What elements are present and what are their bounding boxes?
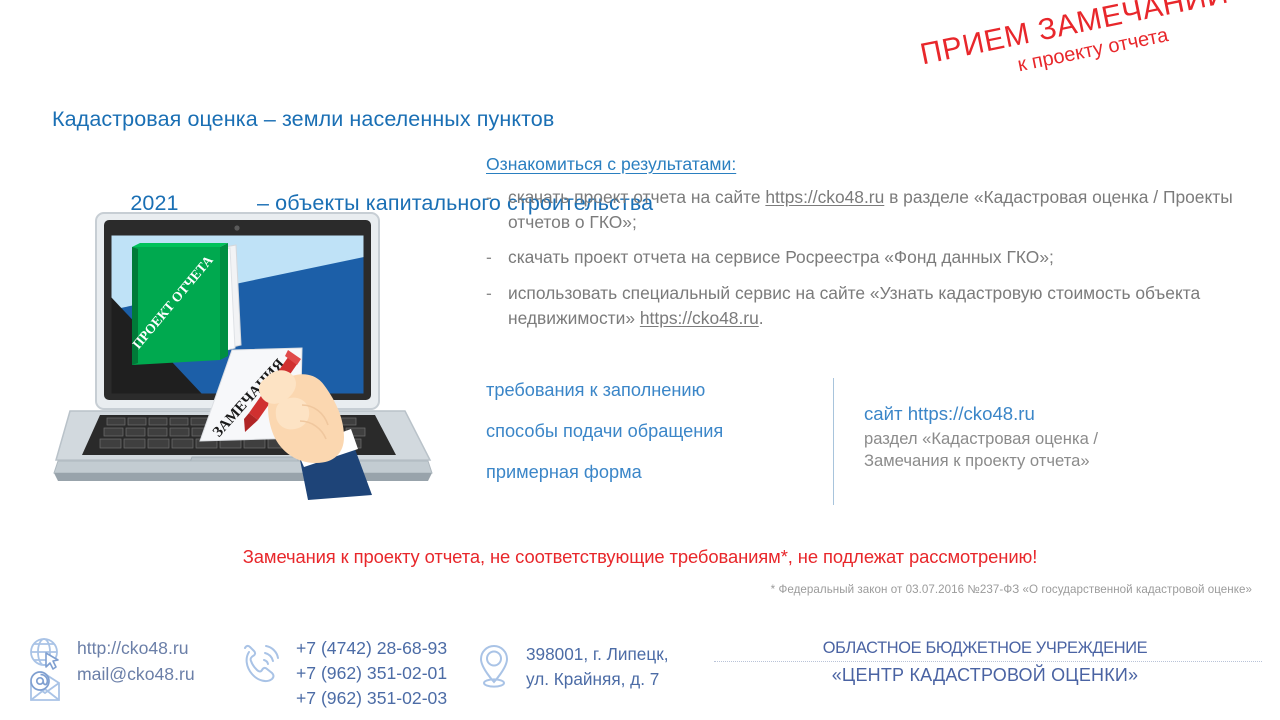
- site-reference-link[interactable]: сайт https://cko48.ru: [864, 402, 1254, 426]
- address-line-1: 398001, г. Липецк,: [526, 642, 669, 667]
- email-link[interactable]: mail@cko48.ru: [77, 662, 195, 688]
- phone-number-2: +7 (962) 351-02-03: [296, 686, 447, 711]
- phone-number-1: +7 (962) 351-02-01: [296, 661, 447, 686]
- list-item-text: скачать проект отчета на сервисе Росреес…: [508, 245, 1256, 270]
- footer-phone-rows: +7 (4742) 28-68-93 +7 (962) 351-02-01 +7…: [296, 636, 447, 711]
- vertical-divider: [833, 378, 834, 505]
- bullet-dash: -: [486, 281, 508, 330]
- acceptance-banner-subtitle: к проекту отчета: [912, 2, 1274, 99]
- requirements-item-0: требования к заполнению: [486, 380, 816, 401]
- website-link[interactable]: http://cko48.ru: [77, 636, 195, 662]
- footer: http://cko48.ru mail@cko48.ru +7 (4742) …: [0, 628, 1280, 720]
- results-heading: Ознакомиться с результатами:: [486, 152, 1256, 177]
- list-item: - использовать специальный сервис на сай…: [486, 281, 1256, 330]
- footer-web-rows: http://cko48.ru mail@cko48.ru: [77, 636, 195, 687]
- footer-web-icons: [26, 636, 66, 713]
- warning-message: Замечания к проекту отчета, не соответст…: [0, 546, 1280, 568]
- list-item: - скачать проект отчета на сервисе Росре…: [486, 245, 1256, 270]
- acceptance-banner-title: ПРИЕМ ЗАМЕЧАНИЙ: [880, 0, 1268, 79]
- list-item-pre: скачать проект отчета на сервисе Росреес…: [508, 247, 1054, 267]
- location-pin-icon: [474, 642, 514, 701]
- phone-number-0: +7 (4742) 28-68-93: [296, 636, 447, 661]
- site-reference-sub-line-2: Замечания к проекту отчета»: [864, 450, 1254, 472]
- acceptance-banner: ПРИЕМ ЗАМЕЧАНИЙ к проекту отчета: [880, 18, 1280, 168]
- footer-address-group: 398001, г. Липецк, ул. Крайняя, д. 7: [474, 642, 669, 701]
- list-item: - скачать проект отчета на сайте https:/…: [486, 185, 1256, 234]
- requirements-item-2: примерная форма: [486, 462, 816, 483]
- requirements-list: требования к заполнению способы подачи о…: [486, 380, 816, 503]
- list-item-pre: скачать проект отчета на сайте: [508, 187, 765, 207]
- phone-icon: [240, 636, 284, 709]
- organization-line-1: ОБЛАСТНОЕ БЮДЖЕТНОЕ УЧРЕЖДЕНИЕ: [700, 638, 1270, 659]
- mid-section: требования к заполнению способы подачи о…: [486, 380, 1266, 510]
- report-book-icon: ПРОЕКТ ОТЧЕТА: [129, 243, 228, 365]
- list-item-text: использовать специальный сервис на сайте…: [508, 281, 1256, 330]
- footnote: * Федеральный закон от 03.07.2016 №237-Ф…: [0, 583, 1252, 596]
- organization-divider: [714, 661, 1262, 663]
- footer-address-rows: 398001, г. Липецк, ул. Крайняя, д. 7: [526, 642, 669, 692]
- cko48-link[interactable]: https://cko48.ru: [765, 187, 884, 207]
- acceptance-banner-inner: ПРИЕМ ЗАМЕЧАНИЙ к проекту отчета: [880, 0, 1273, 104]
- requirements-item-1: способы подачи обращения: [486, 421, 816, 442]
- results-block: Ознакомиться с результатами: - скачать п…: [486, 152, 1256, 341]
- site-reference: сайт https://cko48.ru раздел «Кадастрова…: [864, 402, 1254, 471]
- site-reference-sub-line-1: раздел «Кадастровая оценка /: [864, 428, 1254, 450]
- footer-phone-group: +7 (4742) 28-68-93 +7 (962) 351-02-01 +7…: [240, 636, 447, 711]
- laptop-illustration: ПРОЕКТ ОТЧЕТА: [52, 205, 442, 500]
- at-sign-icon: [31, 672, 49, 690]
- page-title-line-1: Кадастровая оценка – земли населенных пу…: [52, 106, 852, 134]
- bullet-dash: -: [486, 185, 508, 234]
- cko48-link[interactable]: https://cko48.ru: [640, 308, 759, 328]
- organization-line-2: «ЦЕНТР КАДАСТРОВОЙ ОЦЕНКИ»: [700, 664, 1270, 687]
- list-item-post: .: [759, 308, 764, 328]
- bullet-dash: -: [486, 245, 508, 270]
- address-line-2: ул. Крайняя, д. 7: [526, 667, 669, 692]
- organization-name: ОБЛАСТНОЕ БЮДЖЕТНОЕ УЧРЕЖДЕНИЕ «ЦЕНТР КА…: [700, 638, 1270, 687]
- list-item-pre: использовать специальный сервис на сайте…: [508, 283, 1200, 328]
- footer-web-group: http://cko48.ru mail@cko48.ru: [26, 636, 195, 713]
- list-item-text: скачать проект отчета на сайте https://c…: [508, 185, 1256, 234]
